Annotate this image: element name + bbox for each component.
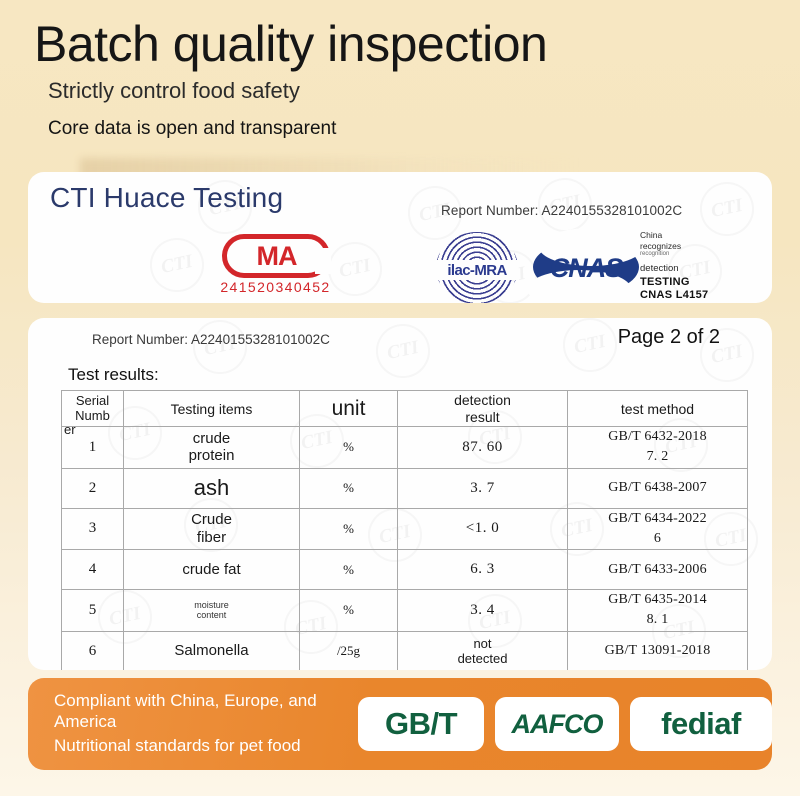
test-results-label: Test results: [68, 365, 159, 385]
table-row: 1 crude protein % 87. 60 GB/T 6432-2018 … [62, 427, 748, 469]
column-header-unit: unit [300, 391, 398, 427]
cell-detection-result: not detected [398, 631, 568, 670]
cnas-side-line-2b: recognition [640, 251, 750, 258]
cell-testing-item: Salmonella [124, 631, 300, 670]
cnas-accreditation-number: CNAS L4157 [640, 289, 750, 301]
accreditation-logo-row: MA 241520340452 ilac-MRA CNAS China reco… [28, 232, 772, 302]
method-line: GB/T 6432-2018 [570, 427, 745, 447]
result-header-line-2: result [400, 409, 565, 425]
cell-unit: % [300, 427, 398, 469]
table-row: 2 ash % 3. 7 GB/T 6438-2007 [62, 468, 748, 508]
item-line: Crude [126, 511, 297, 529]
page-indicator: Page 2 of 2 [618, 326, 720, 349]
cnas-side-line-1: China [640, 230, 750, 241]
standards-badge-row: GB/T AAFCO fediaf [358, 697, 772, 751]
ilac-mra-label: ilac-MRA [447, 262, 506, 279]
cell-serial-number: 2 [62, 468, 124, 508]
cell-unit: % [300, 590, 398, 632]
compliance-line-1: Compliant with China, Europe, and Americ… [54, 691, 358, 732]
lab-name: CTI Huace Testing [50, 182, 283, 214]
cell-detection-result: 87. 60 [398, 427, 568, 469]
table-header-row: Serial Numb er Testing items unit detect… [62, 391, 748, 427]
cell-unit: % [300, 508, 398, 550]
result-line: detected [400, 651, 565, 667]
cell-testing-item: moisture content [124, 590, 300, 632]
cell-testing-item: crude fat [124, 550, 300, 590]
hero-section: Batch quality inspection Strictly contro… [0, 0, 800, 141]
serial-header-line-1: Serial [64, 394, 121, 408]
badge-gbt[interactable]: GB/T [358, 697, 484, 751]
ilac-band: ilac-MRA [436, 260, 518, 280]
result-header-line-1: detection [400, 392, 565, 408]
compliance-banner-text: Compliant with China, Europe, and Americ… [28, 691, 358, 756]
cell-serial-number: 4 [62, 550, 124, 590]
cma-logo: MA 241520340452 [213, 234, 338, 295]
hero-subtitle: Strictly control food safety [0, 78, 800, 104]
cma-certificate-number: 241520340452 [213, 279, 338, 295]
table-row: 6 Salmonella /25g not detected GB/T 1309… [62, 631, 748, 670]
cnas-label: CNAS [533, 253, 639, 284]
test-report-card: CTI CTI CTI CTI CTI CTI CTI CTI CTI CTI … [28, 318, 772, 670]
cell-serial-number: 6 [62, 631, 124, 670]
cell-testing-item: Crude fiber [124, 508, 300, 550]
result-line: not [400, 636, 565, 652]
item-line: crude [126, 430, 297, 448]
serial-header-line-2: Numb [64, 409, 121, 423]
cti-watermark: CTI [371, 319, 435, 383]
cnas-side-line-3: detection [640, 263, 750, 274]
column-header-test-method: test method [568, 391, 748, 427]
serial-header-line-3: er [64, 423, 76, 437]
cell-test-method: GB/T 6433-2006 [568, 550, 748, 590]
item-line: moisture [126, 600, 297, 611]
report-number: Report Number: A2240155328101002C [92, 332, 330, 347]
column-header-testing-items: Testing items [124, 391, 300, 427]
cti-watermark: CTI [188, 318, 252, 379]
cnas-side-line-2: recognizes [640, 241, 750, 252]
compliance-banner: Compliant with China, Europe, and Americ… [28, 678, 772, 770]
cell-unit: % [300, 550, 398, 590]
test-results-table: Serial Numb er Testing items unit detect… [61, 390, 748, 670]
table-header: Serial Numb er Testing items unit detect… [62, 391, 748, 427]
item-line: protein [126, 447, 297, 465]
badge-fediaf[interactable]: fediaf [630, 697, 772, 751]
report-number-header: Report Number: A2240155328101002C [441, 203, 682, 218]
cell-test-method: GB/T 6435-2014 8. 1 [568, 590, 748, 632]
cell-test-method: GB/T 13091-2018 [568, 631, 748, 670]
table-row: 3 Crude fiber % <1. 0 GB/T 6434-2022 6 [62, 508, 748, 550]
item-line: content [126, 610, 297, 621]
cma-mark-icon: MA [222, 234, 330, 278]
hero-subtitle-secondary: Core data is open and transparent [0, 118, 800, 141]
cell-detection-result: 6. 3 [398, 550, 568, 590]
cma-mark-label: MA [257, 241, 297, 272]
ilac-mra-logo: ilac-MRA [436, 232, 518, 303]
cell-testing-item: crude protein [124, 427, 300, 469]
cell-test-method: GB/T 6432-2018 7. 2 [568, 427, 748, 469]
cti-watermark: CTI [558, 318, 622, 377]
cell-detection-result: <1. 0 [398, 508, 568, 550]
cell-serial-number: 3 [62, 508, 124, 550]
cell-test-method: GB/T 6434-2022 6 [568, 508, 748, 550]
cnas-logo: CNAS [533, 236, 639, 298]
method-line: GB/T 6435-2014 [570, 590, 745, 610]
table-row: 5 moisture content % 3. 4 GB/T 6435-2014… [62, 590, 748, 632]
item-line: fiber [126, 529, 297, 547]
compliance-line-2: Nutritional standards for pet food [54, 736, 358, 756]
cell-unit: % [300, 468, 398, 508]
column-header-serial-number: Serial Numb er [62, 391, 124, 427]
method-line: 7. 2 [570, 447, 745, 467]
page-title: Batch quality inspection [0, 16, 800, 72]
cell-detection-result: 3. 7 [398, 468, 568, 508]
cnas-side-line-4: TESTING [640, 276, 750, 288]
cell-unit: /25g [300, 631, 398, 670]
cell-detection-result: 3. 4 [398, 590, 568, 632]
column-header-detection-result: detection result [398, 391, 568, 427]
method-line: GB/T 6434-2022 [570, 509, 745, 529]
table-body: 1 crude protein % 87. 60 GB/T 6432-2018 … [62, 427, 748, 671]
cnas-accreditation-text: China recognizes recognition detection T… [640, 230, 750, 301]
cell-serial-number: 5 [62, 590, 124, 632]
lab-certificate-card: CTI CTI CTI CTI CTI CTI CTI CTI CTI Huac… [28, 172, 772, 303]
method-line: 8. 1 [570, 610, 745, 630]
table-row: 4 crude fat % 6. 3 GB/T 6433-2006 [62, 550, 748, 590]
cell-testing-item: ash [124, 468, 300, 508]
cell-test-method: GB/T 6438-2007 [568, 468, 748, 508]
badge-aafco[interactable]: AAFCO [495, 697, 619, 751]
method-line: 6 [570, 529, 745, 549]
